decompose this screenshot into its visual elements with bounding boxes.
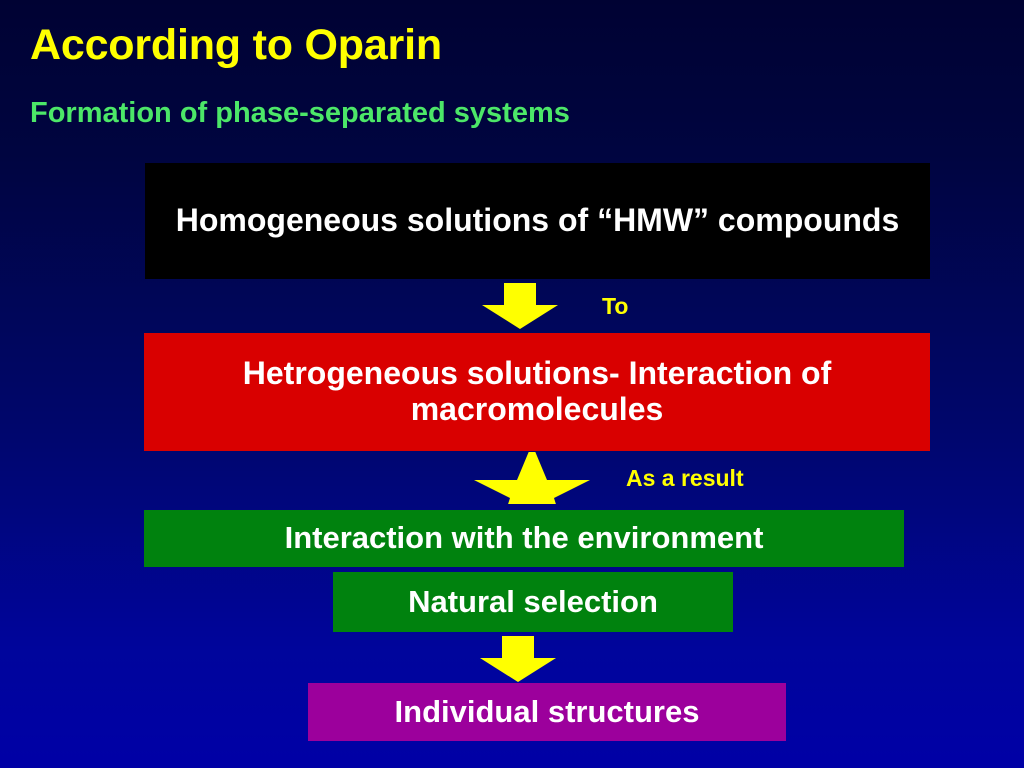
page-subtitle: Formation of phase-separated systems bbox=[30, 97, 570, 130]
connector-as-a-result-label: As a result bbox=[626, 465, 744, 492]
connector-to-label: To bbox=[602, 293, 628, 320]
flow-box-heterogeneous: Hetrogeneous solutions- Interaction of m… bbox=[144, 333, 930, 451]
connector-final bbox=[468, 636, 568, 682]
down-arrow-icon bbox=[468, 636, 568, 682]
flow-box-natural-selection: Natural selection bbox=[333, 572, 733, 632]
flow-box-interaction-environment: Interaction with the environment bbox=[144, 510, 904, 567]
slide-canvas: According to Oparin Formation of phase-s… bbox=[0, 0, 1024, 768]
down-arrow-icon bbox=[470, 283, 570, 329]
connector-to: To bbox=[470, 282, 628, 330]
page-title: According to Oparin bbox=[30, 21, 442, 70]
flow-box-homogeneous: Homogeneous solutions of “HMW” compounds bbox=[145, 163, 930, 279]
flow-box-individual-structures: Individual structures bbox=[308, 683, 786, 741]
star-icon bbox=[472, 452, 592, 504]
connector-as-a-result: As a result bbox=[472, 452, 744, 504]
